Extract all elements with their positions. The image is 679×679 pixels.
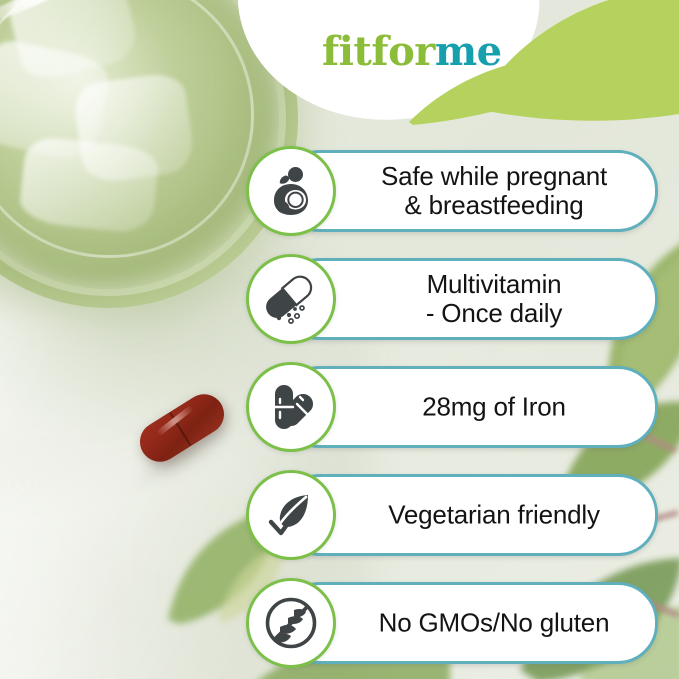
brand-logo: fitforme: [322, 32, 502, 72]
feature-text: Multivitamin - Once daily: [349, 270, 639, 328]
feature-text-line1: No GMOs/No gluten: [349, 608, 639, 637]
feature-badge: Multivitamin - Once daily: [246, 254, 658, 338]
feature-pill: Multivitamin - Once daily: [280, 258, 658, 340]
feature-text-line1: Safe while pregnant: [349, 162, 639, 191]
leaf-checkmark-icon: [265, 489, 317, 541]
feature-badge: Vegetarian friendly: [246, 470, 658, 554]
feature-pill: Vegetarian friendly: [280, 474, 658, 556]
feature-icon-ring: [246, 362, 336, 452]
breastfeeding-icon: [265, 165, 317, 217]
feature-text: No GMOs/No gluten: [349, 608, 639, 637]
logo-text-teal: me: [435, 28, 502, 75]
feature-text-line1: 28mg of Iron: [349, 392, 639, 421]
two-capsules-icon: [266, 382, 316, 432]
feature-pill: Safe while pregnant & breastfeeding: [280, 150, 658, 232]
open-capsule-granules-icon: [264, 272, 318, 326]
feature-pill: No GMOs/No gluten: [280, 582, 658, 664]
feature-text-line1: Vegetarian friendly: [349, 500, 639, 529]
no-gmo-no-gluten-icon: [264, 596, 318, 650]
feature-badge: Safe while pregnant & breastfeeding: [246, 146, 658, 230]
product-infographic: fitforme Safe while pregnant & breastfee…: [0, 0, 679, 679]
feature-icon-ring: [246, 146, 336, 236]
feature-text: 28mg of Iron: [349, 392, 639, 421]
feature-badge: 28mg of Iron: [246, 362, 658, 446]
feature-text: Safe while pregnant & breastfeeding: [349, 162, 639, 220]
feature-text: Vegetarian friendly: [349, 500, 639, 529]
feature-icon-ring: [246, 578, 336, 668]
feature-text-line2: & breastfeeding: [349, 191, 639, 220]
feature-text-line2: - Once daily: [349, 299, 639, 328]
feature-badge: No GMOs/No gluten: [246, 578, 658, 662]
feature-pill: 28mg of Iron: [280, 366, 658, 448]
feature-text-line1: Multivitamin: [349, 270, 639, 299]
feature-badge-list: Safe while pregnant & breastfeeding: [246, 146, 658, 679]
logo-text-green: fitfor: [322, 28, 435, 75]
feature-icon-ring: [246, 254, 336, 344]
feature-icon-ring: [246, 470, 336, 560]
